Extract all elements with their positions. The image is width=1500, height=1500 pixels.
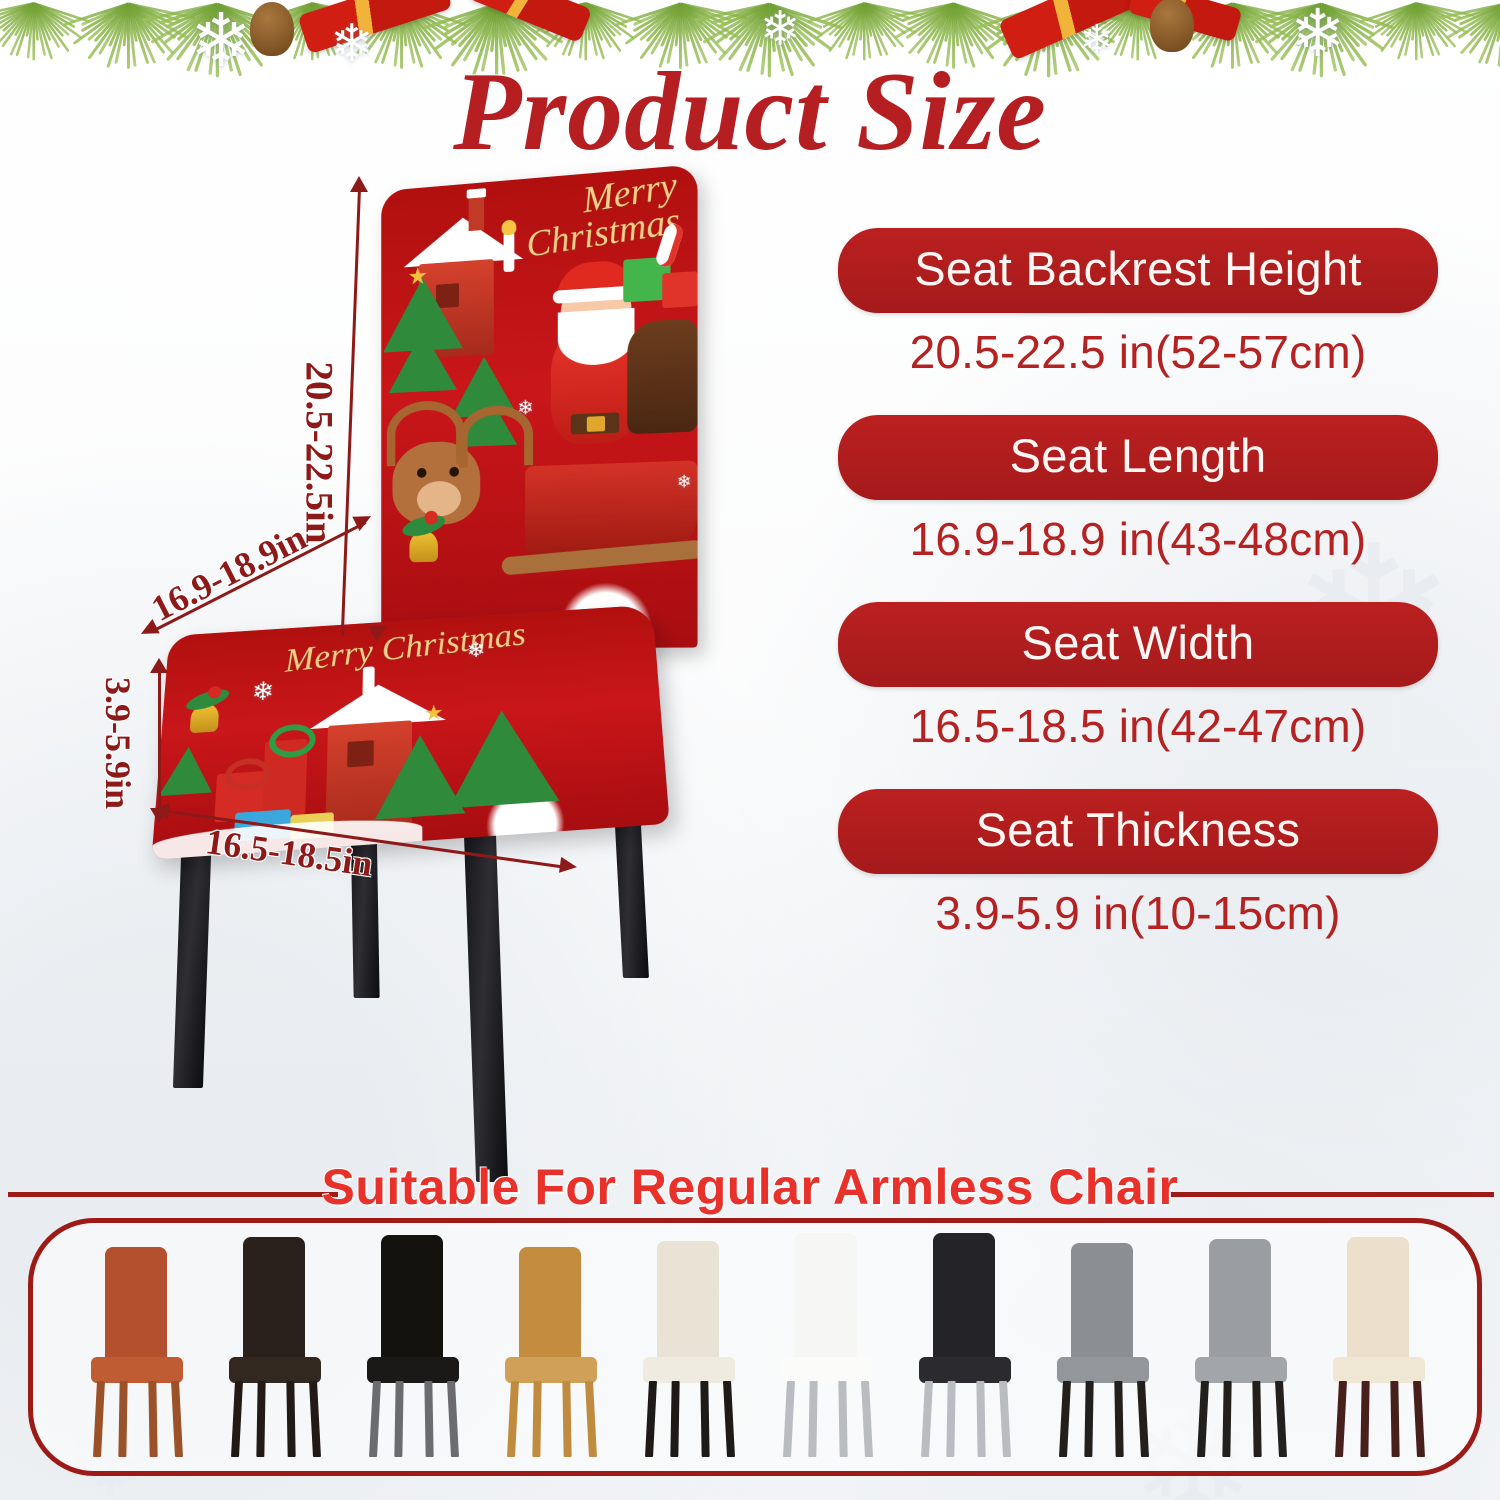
chair-leg (585, 1381, 597, 1457)
specification-list: Seat Backrest Height 20.5-22.5 in(52-57c… (838, 228, 1438, 976)
chair-seat (919, 1357, 1011, 1383)
dim-arrow-length-left (137, 619, 159, 641)
spec-value-seat-length: 16.9-18.9 in(43-48cm) (838, 500, 1438, 566)
spec-row-backrest-height: Seat Backrest Height 20.5-22.5 in(52-57c… (838, 228, 1438, 379)
chair-leg (309, 1381, 321, 1457)
spec-row-seat-width: Seat Width 16.5-18.5 in(42-47cm) (838, 602, 1438, 753)
chair-backrest (795, 1233, 857, 1365)
chair-seat (367, 1357, 459, 1383)
chimney (469, 196, 484, 231)
chair-leg (921, 1381, 933, 1457)
chair-leg (861, 1381, 873, 1457)
chair-seat (643, 1357, 735, 1383)
chair-backrest (105, 1247, 167, 1365)
compatible-chair-white-cantilever-chair (769, 1241, 889, 1457)
chair-leg (256, 1381, 265, 1457)
spec-label-seat-width: Seat Width (838, 602, 1438, 687)
christmas-tree (389, 329, 457, 393)
chair-leg (231, 1381, 243, 1457)
gift-sack (627, 318, 697, 434)
chair-leg (171, 1381, 183, 1457)
chair-leg (1360, 1381, 1369, 1457)
chair-leg (808, 1381, 817, 1457)
chair-backrest-cover: Merry Christmas ★ (381, 164, 697, 648)
spec-value-seat-width: 16.5-18.5 in(42-47cm) (838, 687, 1438, 753)
snowflake-print: ❄ (466, 639, 485, 661)
chair-leg (1335, 1381, 1347, 1457)
snowflake-print: ❄ (517, 398, 534, 419)
page-title: Product Size (0, 48, 1500, 177)
chair-seat (91, 1357, 183, 1383)
infographic-canvas: ❄ ❄ ❄ ❄ ❄❄❄❄❄ Product Size Merry Christm… (0, 0, 1500, 1500)
compatible-chair-black-panel-chair (355, 1241, 475, 1457)
chair-backrest (1209, 1239, 1271, 1365)
compatible-chair-rust-wood-chair (79, 1241, 199, 1457)
chair-seat (505, 1357, 597, 1383)
dim-line-backrest-height (341, 188, 361, 636)
compatible-chair-grey-tufted-chair (1183, 1241, 1303, 1457)
compatible-chair-cream-upholstered-chair (631, 1241, 751, 1457)
compatible-chair-black-cantilever-chair (907, 1241, 1027, 1457)
compatible-chair-dark-brown-leather-chair (217, 1241, 337, 1457)
chair-leg (1137, 1381, 1149, 1457)
compatible-chair-grey-fabric-chair (1045, 1241, 1165, 1457)
chair-leg (1275, 1381, 1287, 1457)
dim-arrow-backrest-top (350, 176, 368, 192)
chair-backrest (381, 1235, 443, 1365)
chair-leg (369, 1381, 381, 1457)
santa-belt-buckle (587, 416, 605, 432)
tree-star: ★ (424, 703, 444, 723)
christmas-tree (159, 745, 215, 796)
chair-leg (532, 1381, 541, 1457)
dim-arrow-backrest-bottom (368, 626, 386, 642)
pinecone-decoration (1150, 0, 1194, 52)
spec-label-seat-thickness: Seat Thickness (838, 789, 1438, 874)
compatibility-heading: Suitable For Regular Armless Chair (0, 1158, 1500, 1216)
snowflake-decoration: ❄ (760, 6, 800, 54)
chair-leg (1390, 1381, 1399, 1457)
spec-row-seat-thickness: Seat Thickness 3.9-5.9 in(10-15cm) (838, 789, 1438, 940)
compatibility-heading-text: Suitable For Regular Armless Chair (321, 1159, 1178, 1215)
chair-leg (93, 1381, 105, 1457)
chair-backrest (243, 1237, 305, 1365)
chair-backrest (1071, 1243, 1133, 1365)
compatible-chair-light-wood-ladder-chair (493, 1241, 613, 1457)
spec-value-seat-thickness: 3.9-5.9 in(10-15cm) (838, 874, 1438, 940)
chair-leg (286, 1381, 295, 1457)
chair-leg (562, 1381, 571, 1457)
candle (504, 232, 515, 273)
spec-label-seat-length: Seat Length (838, 415, 1438, 500)
chair-leg (1114, 1381, 1123, 1457)
chair-leg (723, 1381, 735, 1457)
chair-diagram: Merry Christmas ★ (100, 160, 800, 1160)
candle (362, 666, 374, 697)
chair-leg (394, 1381, 403, 1457)
chair-seat (1195, 1357, 1287, 1383)
snowflake-print: ❄ (251, 678, 275, 705)
chair-leg (118, 1381, 127, 1457)
chair-leg (148, 1381, 157, 1457)
chair-leg (976, 1381, 985, 1457)
spec-label-backrest-height: Seat Backrest Height (838, 228, 1438, 313)
christmas-tree (448, 707, 560, 808)
chair-leg (1413, 1381, 1425, 1457)
chair-seat (229, 1357, 321, 1383)
chair-seat (1057, 1357, 1149, 1383)
compatible-chairs-panel (28, 1218, 1482, 1476)
candle-flame (502, 219, 517, 235)
dim-arrow-width-right (559, 857, 578, 875)
dim-arrow-width-left (151, 801, 170, 819)
chair-leg-front-right (464, 832, 508, 1182)
chair-backrest (519, 1247, 581, 1365)
chair-leg (783, 1381, 795, 1457)
chair-leg (838, 1381, 847, 1457)
dim-label-seat-thickness: 3.9-5.9in (97, 677, 139, 809)
chair-backrest (1347, 1237, 1409, 1365)
chimney-snow (467, 188, 486, 199)
chair-seat (1333, 1357, 1425, 1383)
compatible-chair-cream-nailhead-chair (1321, 1241, 1441, 1457)
chair-backrest (933, 1233, 995, 1365)
chair-leg (424, 1381, 433, 1457)
chair-leg (999, 1381, 1011, 1457)
dim-line-seat-thickness (158, 670, 161, 810)
dim-label-seat-length: 16.9-18.9in (144, 516, 313, 630)
gift-box (662, 271, 697, 308)
chair-leg (1197, 1381, 1209, 1457)
chair-leg (645, 1381, 657, 1457)
house-window (347, 740, 374, 767)
chair-seat (781, 1357, 873, 1383)
chair-leg (670, 1381, 679, 1457)
chair-leg (946, 1381, 955, 1457)
chair-leg (1059, 1381, 1071, 1457)
chair-backrest (657, 1241, 719, 1365)
dim-label-backrest-height: 20.5-22.5in (297, 361, 342, 543)
dim-arrow-thickness-top (150, 658, 168, 673)
snowflake-print: ❄ (677, 473, 692, 491)
chair-leg (1252, 1381, 1261, 1457)
spec-value-backrest-height: 20.5-22.5 in(52-57cm) (838, 313, 1438, 379)
chair-leg (507, 1381, 519, 1457)
tree-star: ★ (408, 266, 429, 289)
chair-leg (700, 1381, 709, 1457)
spec-row-seat-length: Seat Length 16.9-18.9 in(43-48cm) (838, 415, 1438, 566)
chair-leg (447, 1381, 459, 1457)
chair-leg (1084, 1381, 1093, 1457)
chair-leg (1222, 1381, 1231, 1457)
